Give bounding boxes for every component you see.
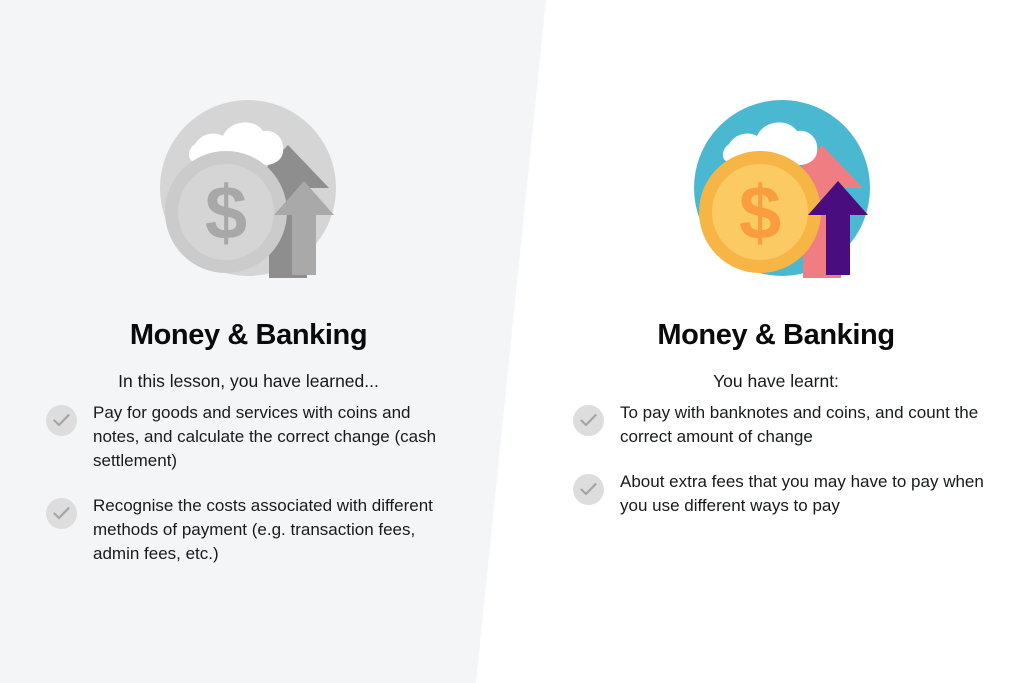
svg-text:$: $ [205, 171, 247, 256]
check-icon [573, 474, 604, 505]
svg-text:$: $ [739, 171, 781, 256]
money-banking-icon-greyscale: $ [153, 93, 343, 283]
page-subtitle: In this lesson, you have learned... [0, 369, 497, 394]
right-panel: $ Money & Banking You have learnt: To pa… [528, 0, 1024, 683]
list-item-label: Pay for goods and services with coins an… [93, 400, 446, 473]
left-panel: $ Money & Banking In this lesson, you ha… [0, 0, 497, 683]
money-banking-icon-colour: $ [687, 93, 877, 283]
list-item: About extra fees that you may have to pa… [573, 469, 993, 518]
learning-outcomes-list: Pay for goods and services with coins an… [46, 400, 446, 566]
list-item-label: To pay with banknotes and coins, and cou… [620, 400, 993, 449]
list-item-label: Recognise the costs associated with diff… [93, 493, 446, 566]
page-title: Money & Banking [0, 317, 497, 353]
page-title: Money & Banking [528, 317, 1024, 353]
colour-coin: $ [699, 151, 821, 273]
page-subtitle: You have learnt: [528, 369, 1024, 394]
check-icon [573, 405, 604, 436]
grey-coin: $ [165, 151, 287, 273]
comparison-stage: $ Money & Banking In this lesson, you ha… [0, 0, 1024, 683]
list-item: Recognise the costs associated with diff… [46, 493, 446, 566]
list-item: Pay for goods and services with coins an… [46, 400, 446, 473]
learning-outcomes-list: To pay with banknotes and coins, and cou… [573, 400, 993, 518]
list-item-label: About extra fees that you may have to pa… [620, 469, 993, 518]
list-item: To pay with banknotes and coins, and cou… [573, 400, 993, 449]
check-icon [46, 498, 77, 529]
check-icon [46, 405, 77, 436]
